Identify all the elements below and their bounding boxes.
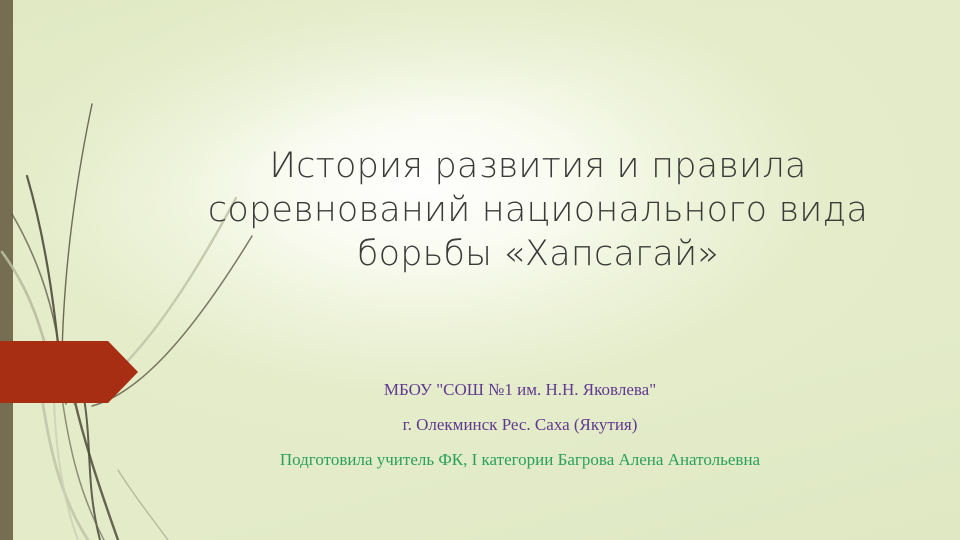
title-line-1: История развития и правила <box>178 144 898 188</box>
red-chevron-arrow <box>0 341 138 403</box>
presentation-slide: История развития и правила соревнований … <box>0 0 960 540</box>
subtitle-line-location: г. Олекминск Рес. Саха (Якутия) <box>150 407 890 442</box>
subtitle-line-author: Подготовила учитель ФК, I категории Багр… <box>150 442 890 477</box>
title-line-2: соревнований национального вида <box>178 188 898 232</box>
title-line-3: борьбы «Хапсагай» <box>178 232 898 276</box>
slide-subtitle: МБОУ "СОШ №1 им. Н.Н. Яковлева" г. Олекм… <box>150 372 890 477</box>
subtitle-line-organization: МБОУ "СОШ №1 им. Н.Н. Яковлева" <box>150 372 890 407</box>
slide-title: История развития и правила соревнований … <box>178 144 898 276</box>
